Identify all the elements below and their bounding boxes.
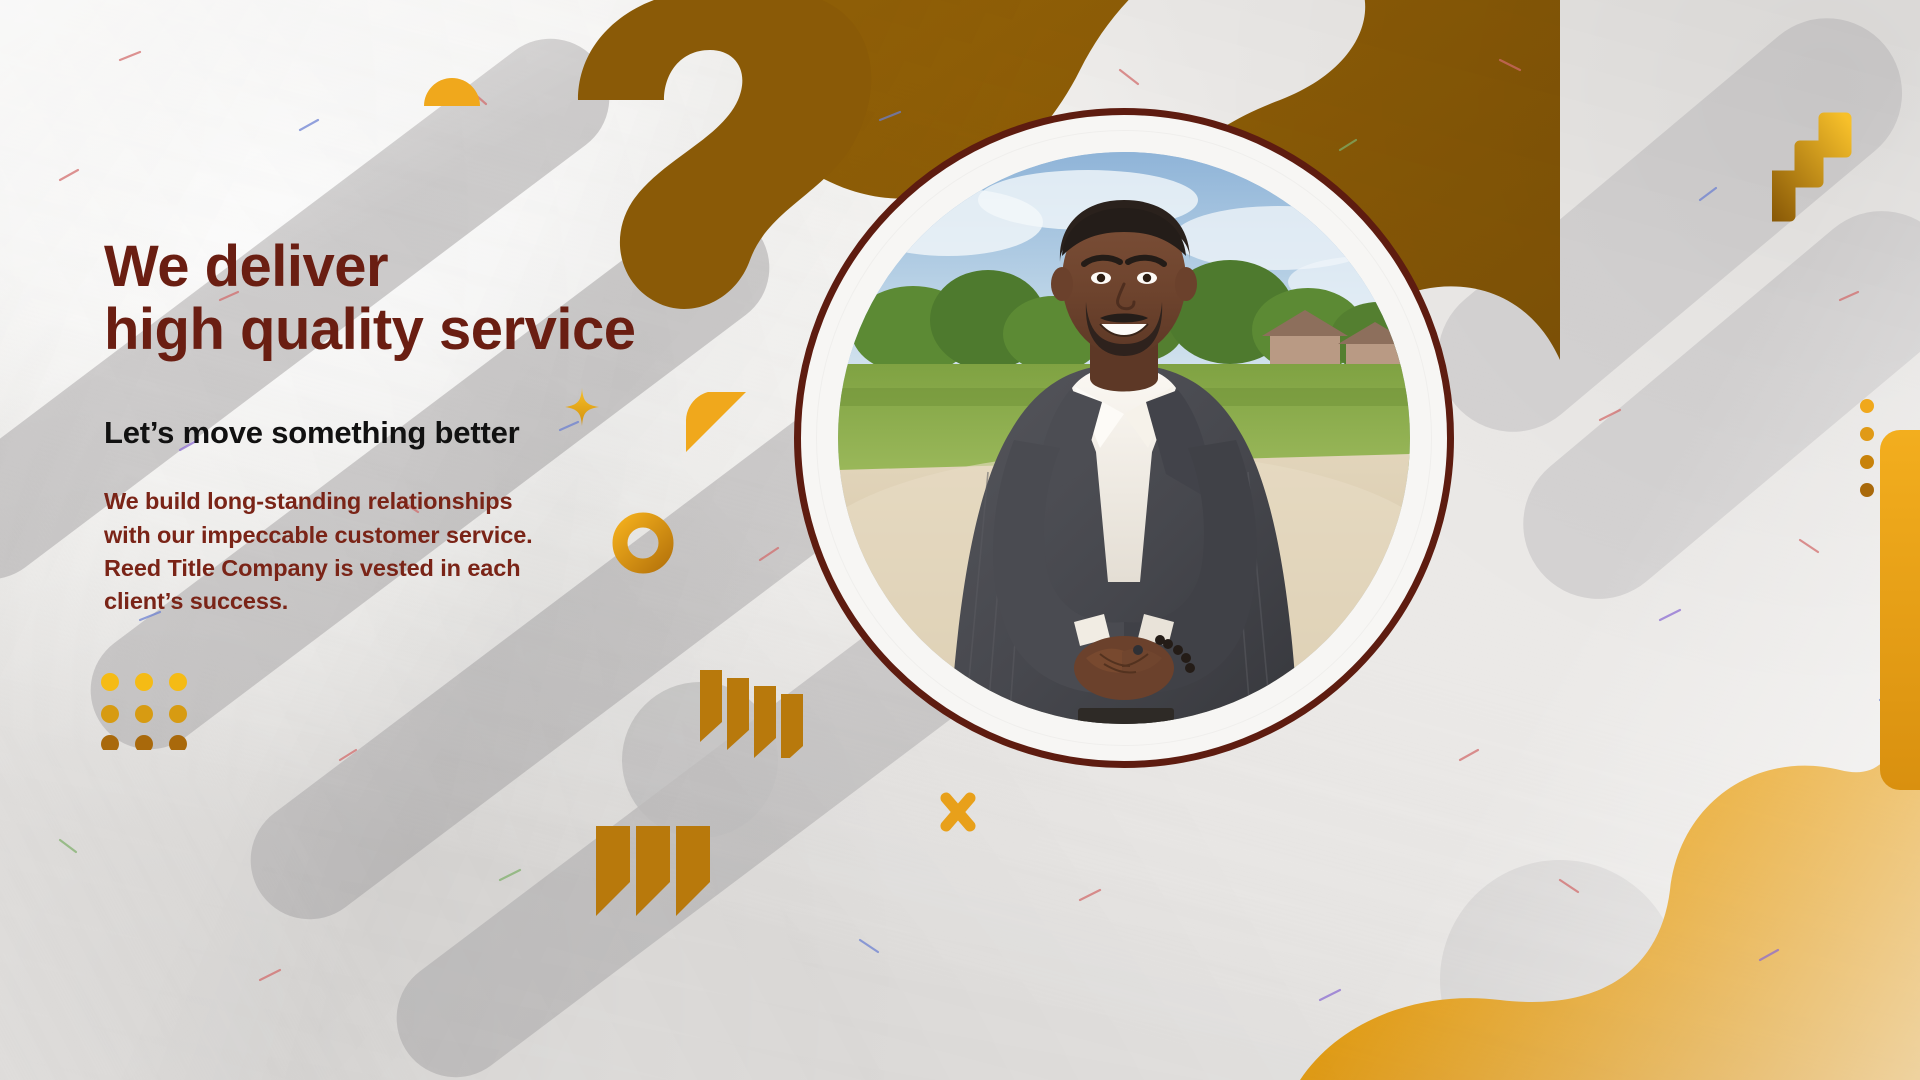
- dot-grid-left: [100, 672, 188, 750]
- marketing-banner: We deliver high quality service Let’s mo…: [0, 0, 1920, 1080]
- page-title: We deliver high quality service: [104, 236, 724, 361]
- subheadline: Let’s move something better: [104, 415, 724, 451]
- gold-cross-mark-icon: [938, 790, 978, 834]
- gold-half-circle: [424, 74, 480, 106]
- portrait-photo: [838, 152, 1410, 724]
- body-paragraph: We build long-standing relationships wit…: [104, 485, 724, 618]
- gold-right-edge-band: [1880, 430, 1920, 790]
- portrait-circle: [794, 108, 1454, 768]
- gold-chevron-row-bottom: [596, 826, 726, 916]
- banner-copy: We deliver high quality service Let’s mo…: [104, 236, 724, 619]
- dot-column-right: [1854, 398, 1880, 508]
- gold-zigzag: [1772, 112, 1860, 222]
